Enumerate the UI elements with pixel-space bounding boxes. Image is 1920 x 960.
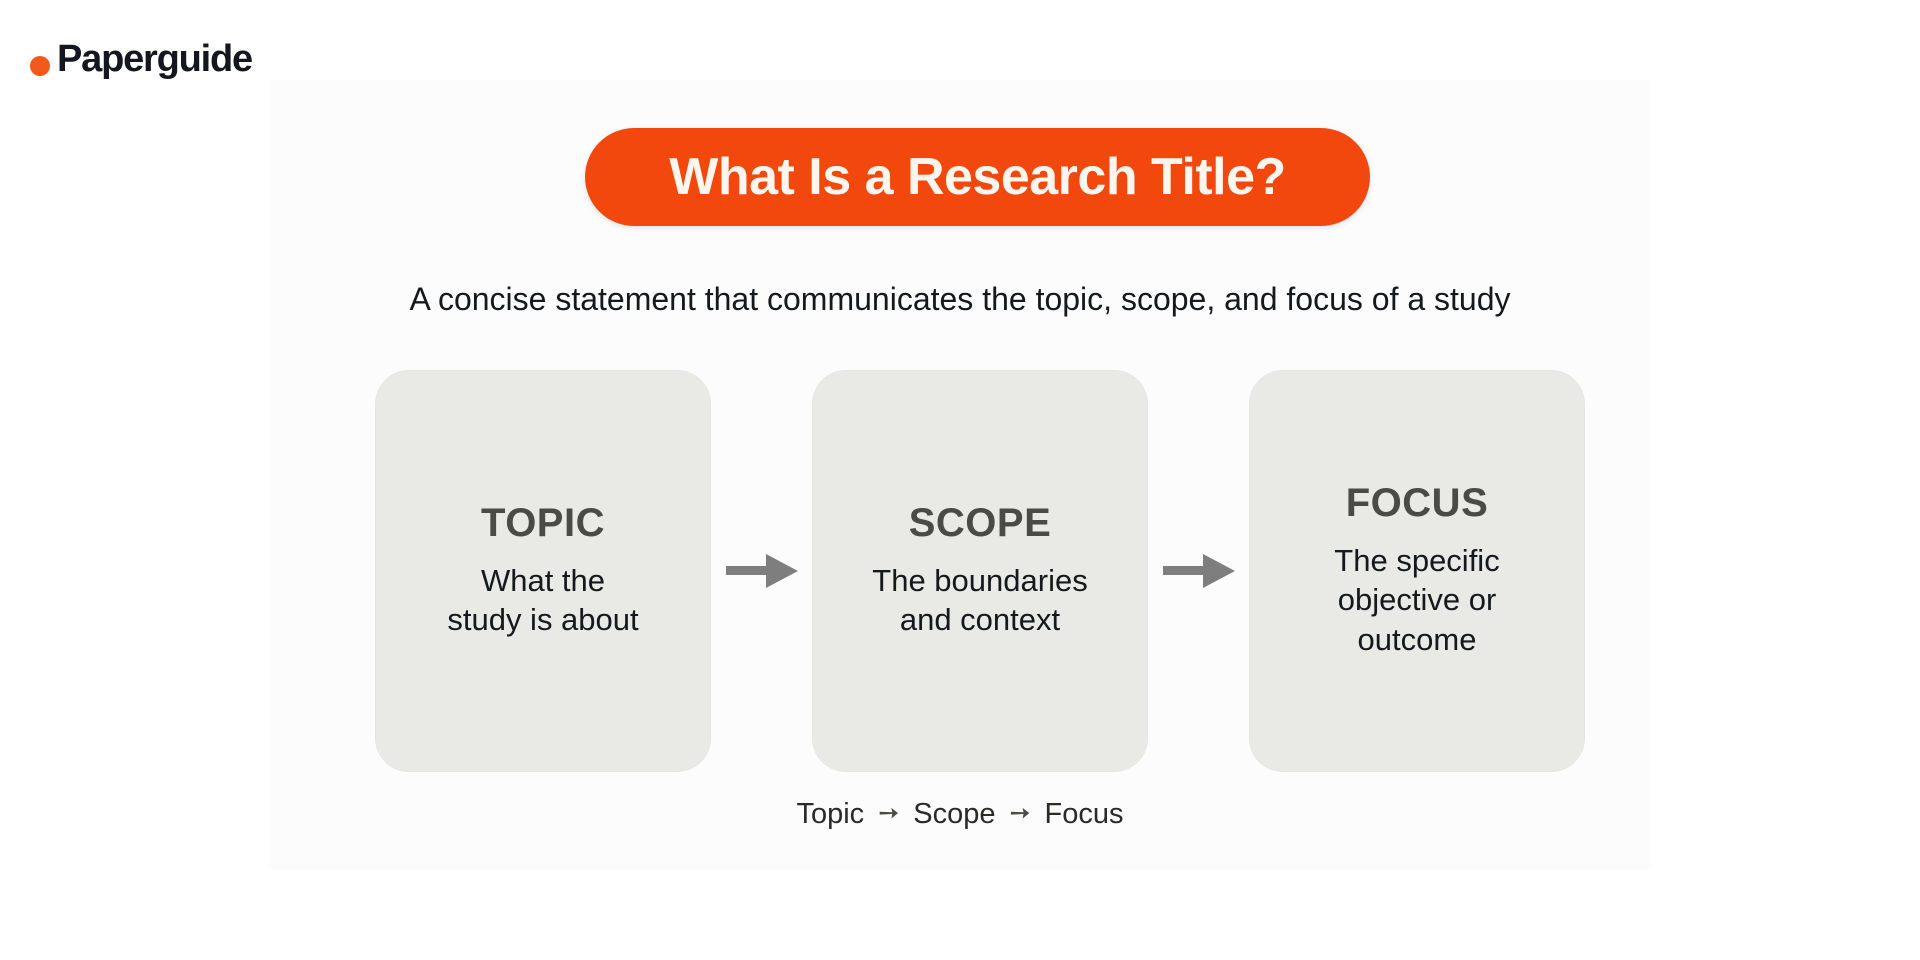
flow-card-desc-line: What the: [447, 561, 638, 600]
flow-card-topic: TOPIC What the study is about: [375, 370, 711, 772]
page-subtitle: A concise statement that communicates th…: [270, 282, 1650, 317]
flow-card-title: FOCUS: [1346, 483, 1489, 523]
caption-step-topic: Topic: [796, 798, 864, 830]
caption-step-scope: Scope: [913, 798, 995, 830]
flow-card-title: SCOPE: [909, 503, 1052, 543]
flow-card-description: The boundaries and context: [872, 561, 1087, 640]
flow-caption: Topic ➙ Scope ➙ Focus: [270, 800, 1650, 829]
flow-card-desc-line: study is about: [447, 600, 638, 639]
brand-name: Paperguide: [57, 40, 252, 78]
arrow-right-icon: [1162, 548, 1236, 594]
flow-card-title: TOPIC: [481, 503, 605, 543]
arrow-right-icon: [725, 548, 799, 594]
flow-card-desc-line: The specific: [1334, 541, 1499, 580]
flow-card-desc-line: outcome: [1334, 620, 1499, 659]
flow-card-focus: FOCUS The specific objective or outcome: [1249, 370, 1585, 772]
arrow-right-icon: ➙: [872, 799, 905, 827]
caption-step-focus: Focus: [1045, 798, 1124, 830]
title-banner: What Is a Research Title?: [585, 128, 1370, 226]
dot-icon: [30, 56, 50, 76]
brand-logo: Paperguide: [30, 40, 252, 78]
flow-card-description: The specific objective or outcome: [1334, 541, 1499, 659]
process-flow: TOPIC What the study is about SCOPE The …: [375, 370, 1585, 772]
flow-card-desc-line: and context: [872, 600, 1087, 639]
flow-card-desc-line: The boundaries: [872, 561, 1087, 600]
flow-card-desc-line: objective or: [1334, 580, 1499, 619]
flow-card-description: What the study is about: [447, 561, 638, 640]
arrow-right-icon: ➙: [1004, 799, 1037, 827]
page-title: What Is a Research Title?: [669, 151, 1286, 203]
flow-card-scope: SCOPE The boundaries and context: [812, 370, 1148, 772]
